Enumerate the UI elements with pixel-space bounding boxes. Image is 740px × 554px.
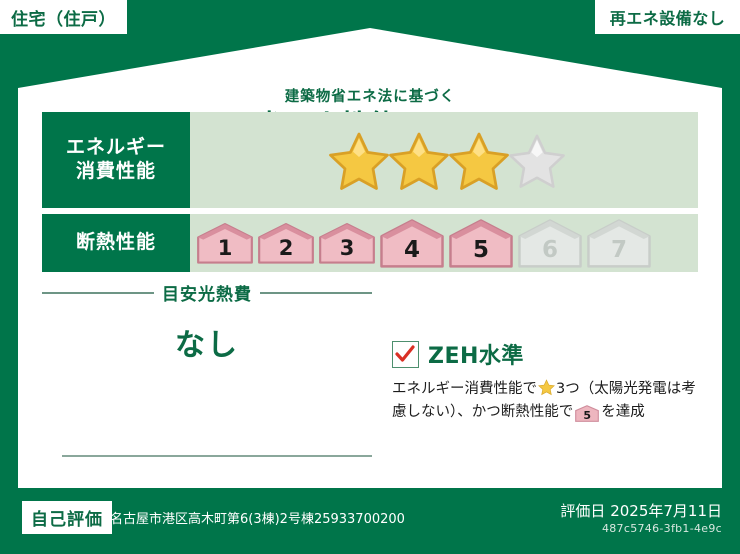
- zeh-title: ZEH水準: [428, 338, 524, 370]
- label-root: 住宅（住戸） 再エネ設備なし 建築物省エネ法に基づく 省エネ性能ラベル エネルギ…: [0, 0, 740, 554]
- insulation-level-badge: 4: [379, 218, 445, 268]
- insulation-level-value: 4: [404, 237, 420, 263]
- tag-housing-type-label: 住宅（住戸）: [11, 5, 116, 30]
- star-icon-filled: [389, 131, 449, 189]
- star-icon-inline: [538, 379, 555, 395]
- title-subtitle: 建築物省エネ法に基づく: [18, 90, 722, 106]
- insulation-level-badge: 7: [586, 218, 652, 268]
- utility-cost-heading: 目安光熱費: [42, 280, 372, 305]
- insulation-level-badge: 3: [318, 222, 376, 264]
- zeh-checkbox[interactable]: [392, 341, 419, 368]
- insulation-level-badge: 6: [517, 218, 583, 268]
- star-icon-filled: [329, 131, 389, 189]
- utility-cost-bottom-divider: [62, 455, 372, 457]
- insulation-performance-label-text: 断熱性能: [76, 231, 156, 255]
- rule-left: [42, 292, 154, 294]
- zeh-description: エネルギー消費性能で3つ（太陽光発電は考慮しない）、かつ断熱性能で5を達成: [392, 378, 698, 424]
- insulation-badge-inline-value: 5: [583, 409, 591, 422]
- self-evaluation-badge: 自己評価: [22, 501, 112, 534]
- evaluation-date-label: 評価日: [560, 502, 605, 520]
- evaluation-id: 487c5746-3fb1-4e9c: [602, 522, 722, 535]
- property-address: 名古屋市港区高木町第6(3棟)2号棟25933700200: [110, 508, 405, 527]
- rule-right: [260, 292, 372, 294]
- tag-renewable-energy: 再エネ設備なし: [595, 0, 740, 34]
- zeh-block: ZEH水準 エネルギー消費性能で3つ（太陽光発電は考慮しない）、かつ断熱性能で5…: [392, 338, 698, 424]
- insulation-level-badge: 1: [196, 222, 254, 264]
- label-card: 建築物省エネ法に基づく 省エネ性能ラベル エネルギー 消費性能 断熱性能 123…: [18, 28, 722, 488]
- insulation-level-badge: 2: [257, 222, 315, 264]
- insulation-level-value: 6: [542, 237, 558, 263]
- utility-cost-heading-text: 目安光熱費: [162, 280, 252, 305]
- utility-cost-value: なし: [42, 320, 372, 364]
- insulation-performance-label: 断熱性能: [42, 214, 190, 272]
- check-icon: [395, 344, 415, 364]
- star-icon-empty: [509, 133, 565, 187]
- energy-performance-label-line2: 消費性能: [76, 160, 156, 184]
- star-rating: [190, 112, 698, 208]
- energy-performance-label-line1: エネルギー: [66, 136, 166, 160]
- insulation-level-value: 2: [279, 236, 294, 260]
- insulation-level-value: 1: [218, 236, 233, 260]
- insulation-level-badge: 5: [448, 218, 514, 268]
- zeh-desc-part3: を達成: [601, 404, 645, 420]
- zeh-desc-part1: エネルギー消費性能で: [392, 381, 537, 397]
- insulation-level-value: 7: [611, 237, 627, 263]
- energy-performance-label: エネルギー 消費性能: [42, 112, 190, 208]
- zeh-header: ZEH水準: [392, 338, 698, 370]
- insulation-level-value: 3: [340, 236, 355, 260]
- evaluation-date-value: 2025年7月11日: [610, 502, 722, 520]
- footer: 自己評価 名古屋市港区高木町第6(3棟)2号棟25933700200 評価日 2…: [0, 488, 740, 554]
- evaluation-date: 評価日 2025年7月11日: [560, 500, 722, 521]
- tag-housing-type: 住宅（住戸）: [0, 0, 127, 34]
- insulation-performance-row: 断熱性能 1234567: [42, 214, 698, 272]
- tag-renewable-energy-label: 再エネ設備なし: [610, 5, 726, 29]
- energy-performance-row: エネルギー 消費性能: [42, 112, 698, 208]
- insulation-badge-inline: 5: [575, 405, 599, 422]
- insulation-level-scale: 1234567: [190, 214, 698, 272]
- star-icon-filled: [449, 131, 509, 189]
- insulation-level-value: 5: [473, 237, 489, 263]
